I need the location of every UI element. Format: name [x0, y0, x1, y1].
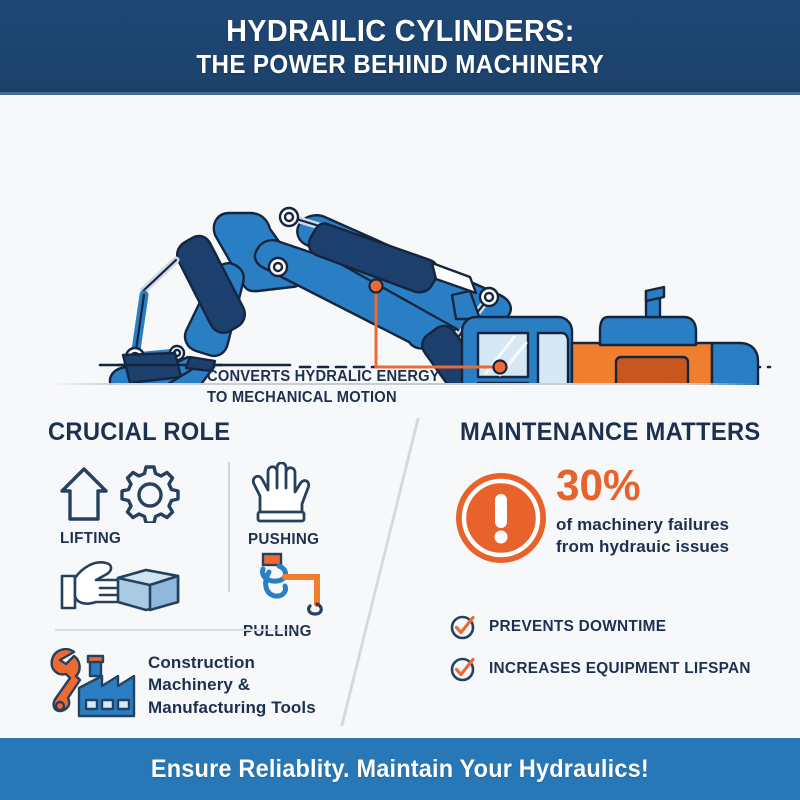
stat-description-line1: of machinery failures: [556, 514, 766, 536]
hook-top-block: [263, 554, 281, 565]
benefit-item-1: PREVENTS DOWNTIME: [450, 614, 674, 640]
tools-text-line2: Machinery &: [148, 674, 316, 696]
cab-door-window: [538, 333, 568, 385]
role-item-lifting: LIFTING: [60, 465, 180, 548]
column-rule: [228, 462, 230, 592]
page-title-line1: HYDRAILIC CYLINDERS:: [226, 15, 575, 47]
wrench-shape: [52, 649, 80, 711]
maintenance-heading: MAINTENANCE MATTERS: [460, 418, 761, 447]
role-label-pushing: PUSHING: [248, 531, 319, 549]
exclamation-dot: [495, 531, 508, 544]
hero-caption: CONVERTS HYDRALIC ENERGY TO MECHANICAL M…: [207, 367, 492, 409]
diagonal-divider: [330, 405, 430, 735]
wrist: [62, 576, 75, 608]
hero-illustration: CONVERTS HYDRALIC ENERGY TO MECHANICAL M…: [0, 95, 800, 385]
stat-value: 30%: [556, 464, 758, 508]
role-item-pushing: PUSHING: [248, 462, 323, 549]
open-hand-icon: [248, 462, 318, 524]
arrow-up-icon: [62, 469, 106, 519]
header-banner: HYDRAILIC CYLINDERS: THE POWER BEHIND MA…: [0, 0, 800, 95]
crucial-role-heading: CRUCIAL ROLE: [48, 418, 230, 447]
benefit-label-1: PREVENTS DOWNTIME: [489, 618, 666, 636]
page-title-line2: THE POWER BEHIND MACHINERY: [196, 50, 604, 80]
stat-block: 30% of machinery failures from hydrauic …: [556, 464, 766, 559]
footer-banner: Ensure Reliablity. Maintain Your Hydraul…: [0, 738, 800, 800]
gear-icon: [122, 467, 178, 523]
tools-block: Construction Machinery & Manufacturing T…: [46, 648, 336, 720]
role-item-pulling: PULLING: [243, 552, 335, 641]
stat-description: of machinery failures from hydrauic issu…: [556, 514, 766, 559]
exclamation-circle-icon: [455, 472, 547, 564]
excavator-illustration: [0, 95, 800, 385]
role-item-hand-box: [60, 558, 182, 619]
benefit-item-2: INCREASES EQUIPMENT LIFSPAN: [450, 656, 762, 682]
horizontal-divider: [48, 383, 755, 385]
pipe-elbow: [285, 577, 317, 604]
stat-description-line2: from hydrauic issues: [556, 536, 766, 558]
wrench-factory-icon: [46, 648, 136, 720]
check-circle-icon: [450, 656, 476, 682]
bucket-mount: [123, 353, 181, 383]
counterweight: [712, 343, 758, 385]
hand-pushing-box-icon: [60, 558, 182, 614]
warning-icon-wrap: [455, 472, 547, 569]
engine-top-cover: [600, 317, 696, 345]
tools-text-line3: Manufacturing Tools: [148, 697, 316, 719]
tools-text: Construction Machinery & Manufacturing T…: [148, 648, 316, 719]
arrow-up-gear-icon: [60, 465, 180, 523]
palm-and-fingers: [253, 463, 308, 514]
infographic-page: HYDRAILIC CYLINDERS: THE POWER BEHIND MA…: [0, 0, 800, 800]
role-label-lifting: LIFTING: [60, 530, 174, 548]
role-label-pulling: PULLING: [243, 623, 330, 641]
hand-base: [258, 512, 304, 521]
hook-pipe-icon: [243, 552, 335, 616]
check-circle-icon: [450, 614, 476, 640]
benefit-label-2: INCREASES EQUIPMENT LIFSPAN: [489, 660, 751, 678]
exclamation-bar: [495, 494, 507, 528]
footer-tagline: Ensure Reliablity. Maintain Your Hydraul…: [151, 755, 649, 784]
tools-text-line1: Construction: [148, 652, 316, 674]
chimney-cap: [88, 656, 103, 662]
tools-divider: [55, 629, 305, 631]
engine-vent: [616, 357, 688, 385]
